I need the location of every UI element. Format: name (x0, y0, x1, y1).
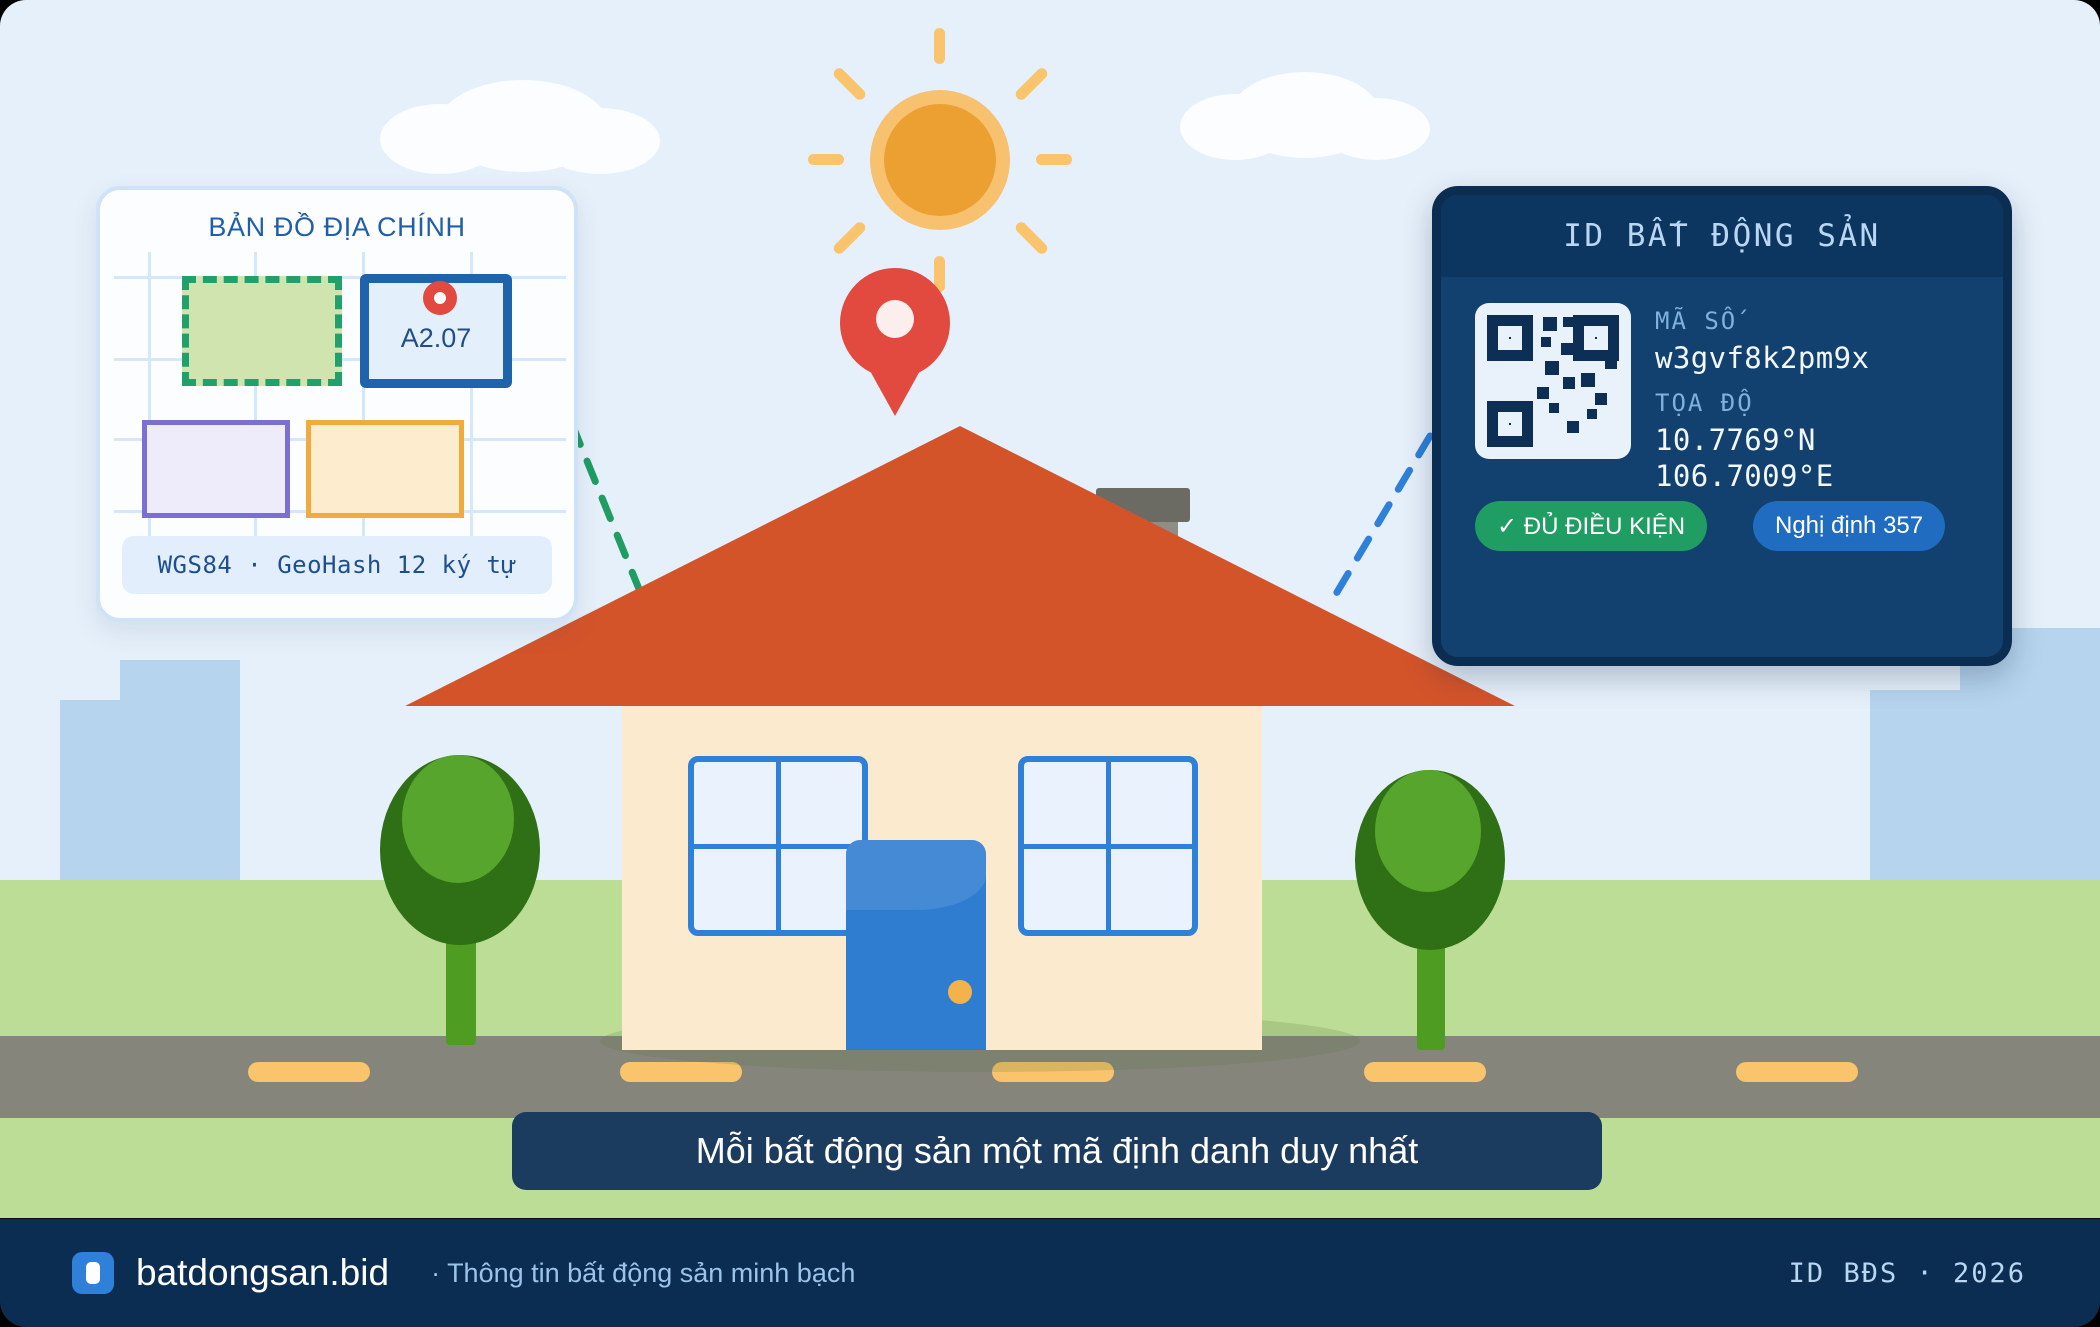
parcel-label: A2.07 (369, 323, 503, 354)
front-door[interactable] (846, 840, 986, 1050)
status-badge-decree[interactable]: Nghị định 357 (1753, 501, 1945, 551)
infographic-canvas: BẢN ĐỒ ĐỊA CHÍNH A2.07 WGS84 · GeoHash 1… (0, 0, 2100, 1327)
id-panel-header: ID BẤT ĐỘNG SẢN (1441, 195, 2003, 277)
parcel-purple[interactable] (142, 420, 290, 518)
tree-left (380, 755, 540, 1045)
parcel-marker-dot (423, 281, 457, 315)
map-grid: A2.07 (114, 252, 566, 538)
house (540, 330, 1420, 1050)
window-right (1018, 756, 1198, 936)
parcel-orange[interactable] (306, 420, 464, 518)
brand-logo-icon (72, 1252, 114, 1294)
footer-tagline: · Thông tin bất động sản minh bạch (431, 1258, 855, 1289)
qr-code-icon[interactable] (1475, 303, 1631, 459)
window-left (688, 756, 868, 936)
caption-banner: Mỗi bất động sản một mã định danh duy nh… (512, 1112, 1602, 1190)
property-id-panel[interactable]: ID BẤT ĐỘNG SẢN MÃ SỐ w3gvf8k2pm9x TỌA Đ… (1432, 186, 2012, 666)
parcel-selected-a207[interactable]: A2.07 (360, 274, 512, 388)
code-value: w3gvf8k2pm9x (1655, 341, 1869, 375)
status-badge-eligible[interactable]: ✓ ĐỦ ĐIỀU KIỆN (1475, 501, 1707, 551)
door-knob (948, 980, 972, 1004)
map-card-title: BẢN ĐỒ ĐỊA CHÍNH (100, 212, 574, 243)
code-label: MÃ SỐ (1655, 307, 1737, 335)
latitude-value: 10.7769°N (1655, 423, 1816, 457)
footer-meta: ID BĐS · 2026 (1789, 1258, 2026, 1289)
coord-label: TỌA ĐỘ (1655, 389, 1754, 417)
cadastral-map-card[interactable]: BẢN ĐỒ ĐỊA CHÍNH A2.07 WGS84 · GeoHash 1… (96, 186, 578, 622)
location-pin-icon (840, 268, 950, 434)
longitude-value: 106.7009°E (1655, 459, 1834, 493)
map-coordinate-system-note: WGS84 · GeoHash 12 ký tự (122, 536, 552, 594)
brand-name: batdongsan.bid (136, 1252, 389, 1294)
page-footer: batdongsan.bid · Thông tin bất động sản … (0, 1219, 2100, 1327)
caption-text: Mỗi bất động sản một mã định danh duy nh… (696, 1130, 1418, 1172)
id-panel-title: ID BẤT ĐỘNG SẢN (1563, 218, 1880, 254)
parcel-green[interactable] (182, 276, 342, 386)
